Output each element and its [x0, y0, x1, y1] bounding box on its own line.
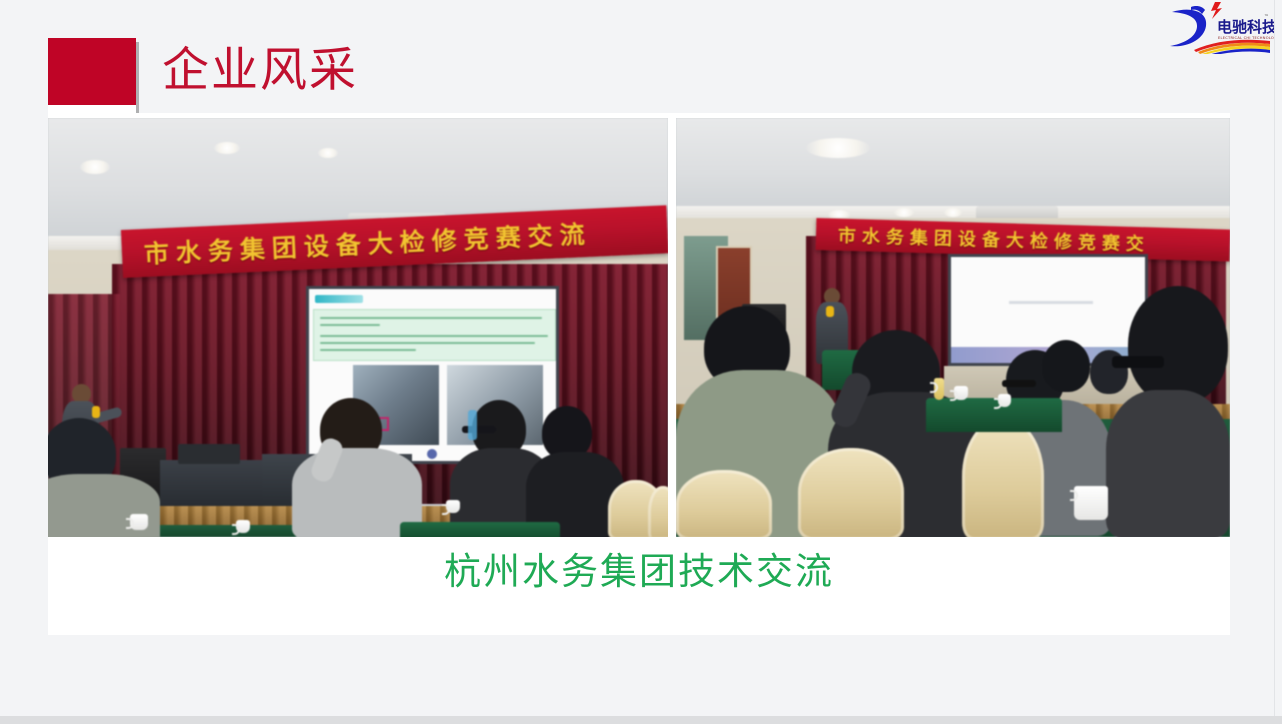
gallery-card: 市水务集团设备大检修竞赛交流	[48, 113, 1230, 635]
svg-text:电驰科技: 电驰科技	[1217, 18, 1275, 36]
header-accent-swatch	[48, 38, 136, 113]
downlight	[806, 138, 870, 158]
lidded-tea-mug	[1074, 486, 1108, 520]
microphone	[92, 406, 100, 418]
banquet-chair	[798, 448, 904, 537]
photo-right-scene: 市水务集团设备大检修竞赛交	[676, 118, 1230, 537]
ceiling	[676, 118, 1230, 216]
svg-text:™: ™	[1264, 14, 1269, 20]
photo-right-audience-view[interactable]: 市水务集团设备大检修竞赛交	[676, 118, 1230, 537]
banquet-chair	[962, 418, 1044, 537]
meeting-table	[400, 522, 560, 537]
svg-text:ELECTRICAL CHI TECHNOLOGY: ELECTRICAL CHI TECHNOLOGY	[1218, 36, 1275, 40]
banquet-chair	[676, 470, 772, 537]
photo-left-scene: 市水务集团设备大检修竞赛交流	[48, 118, 668, 537]
dianchi-technology-logo[interactable]: 电驰科技 ™ ELECTRICAL CHI TECHNOLOGY	[1158, 0, 1275, 54]
page-title: 企业风采	[162, 41, 358, 101]
av-equipment	[178, 444, 240, 464]
tea-cup	[130, 514, 148, 530]
page-header: 企业风采	[48, 38, 358, 113]
banquet-chair	[648, 486, 668, 537]
photo-left-presentation-wide[interactable]: 市水务集团设备大检修竞赛交流	[48, 118, 668, 537]
slide-title-chip	[315, 295, 363, 303]
audience-head-foreground	[1128, 286, 1228, 404]
slide-text-panel	[313, 309, 556, 361]
screen-line	[1009, 301, 1093, 304]
photo-strip: 市水务集团设备大检修竞赛交流	[48, 118, 1230, 537]
page-right-divider	[1274, 0, 1275, 716]
tea-cup	[998, 394, 1011, 407]
eyeglasses	[1112, 356, 1164, 368]
downlight	[214, 142, 240, 154]
water-bottle	[468, 410, 477, 440]
tea-cup	[446, 500, 460, 513]
event-banner-text: 市水务集团设备大检修竞赛交	[816, 221, 1151, 256]
drink-bottle	[934, 378, 944, 400]
downlight	[318, 148, 338, 158]
downlight	[894, 208, 914, 217]
page-root: 电驰科技 ™ ELECTRICAL CHI TECHNOLOGY 企业风采	[0, 0, 1282, 724]
tea-cup	[236, 520, 250, 533]
downlight	[80, 160, 110, 174]
eyeglasses	[1002, 380, 1036, 387]
microphone	[826, 306, 834, 317]
gallery-caption: 杭州水务集团技术交流	[48, 545, 1230, 599]
audience-torso	[1106, 390, 1230, 537]
tea-cup	[954, 386, 968, 400]
audience-head	[1042, 340, 1090, 392]
slide-footer-icon	[427, 449, 437, 459]
page-bottom-bar	[0, 716, 1282, 724]
downlight	[944, 208, 962, 217]
